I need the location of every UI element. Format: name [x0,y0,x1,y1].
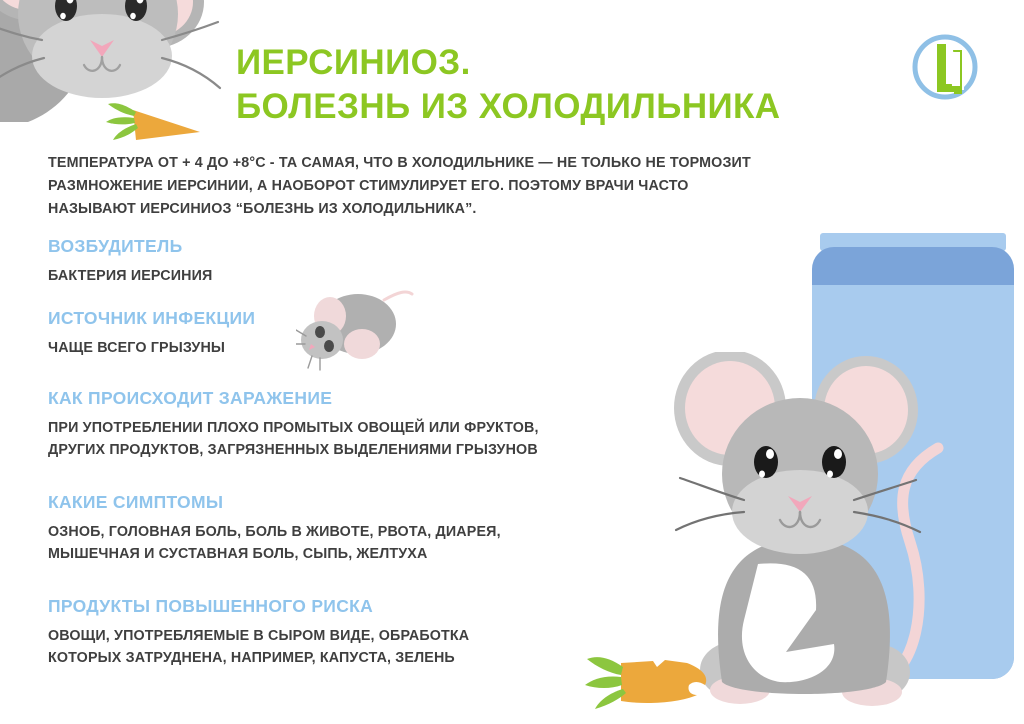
section-infection-source: ИСТОЧНИК ИНФЕКЦИИ ЧАЩЕ ВСЕГО ГРЫЗУНЫ [48,306,708,359]
section-heading-symptoms: КАКИЕ СИМПТОМЫ [48,490,708,514]
section-transmission: КАК ПРОИСХОДИТ ЗАРАЖЕНИЕ ПРИ УПОТРЕБЛЕНИ… [48,386,708,461]
section-body-line: МЫШЕЧНАЯ И СУСТАВНАЯ БОЛЬ, СЫПЬ, ЖЕЛТУХА [48,543,708,565]
section-heading-pathogen: ВОЗБУДИТЕЛЬ [48,234,708,258]
section-body-transmission: ПРИ УПОТРЕБЛЕНИИ ПЛОХО ПРОМЫТЫХ ОВОЩЕЙ И… [48,417,708,461]
intro-paragraph: ТЕМПЕРАТУРА ОТ + 4 ДО +8°С - ТА САМАЯ, Ч… [48,152,948,221]
section-body-line: ОЗНОБ, ГОЛОВНАЯ БОЛЬ, БОЛЬ В ЖИВОТЕ, РВО… [48,521,708,543]
mouse-head-top-left-illustration [0,0,226,164]
section-body-line: ПРИ УПОТРЕБЛЕНИИ ПЛОХО ПРОМЫТЫХ ОВОЩЕЙ И… [48,417,708,439]
section-body-high-risk-products: ОВОЩИ, УПОТРЕБЛЯЕМЫЕ В СЫРОМ ВИДЕ, ОБРАБ… [48,625,708,669]
section-heading-transmission: КАК ПРОИСХОДИТ ЗАРАЖЕНИЕ [48,386,708,410]
section-body-line: БАКТЕРИЯ ИЕРСИНИЯ [48,265,708,287]
section-body-line: КОТОРЫХ ЗАТРУДНЕНА, НАПРИМЕР, КАПУСТА, З… [48,647,708,669]
section-heading-infection-source: ИСТОЧНИК ИНФЕКЦИИ [48,306,708,330]
section-body-pathogen: БАКТЕРИЯ ИЕРСИНИЯ [48,265,708,287]
title-line-2: БОЛЕЗНЬ ИЗ ХОЛОДИЛЬНИКА [236,85,896,129]
section-heading-high-risk-products: ПРОДУКТЫ ПОВЫШЕННОГО РИСКА [48,594,708,618]
section-body-symptoms: ОЗНОБ, ГОЛОВНАЯ БОЛЬ, БОЛЬ В ЖИВОТЕ, РВО… [48,521,708,565]
section-body-line: ОВОЩИ, УПОТРЕБЛЯЕМЫЕ В СЫРОМ ВИДЕ, ОБРАБ… [48,625,708,647]
carrot-icon [106,103,200,140]
organization-logo[interactable] [906,28,984,106]
section-symptoms: КАКИЕ СИМПТОМЫ ОЗНОБ, ГОЛОВНАЯ БОЛЬ, БОЛ… [48,490,708,565]
page-title: ИЕРСИНИОЗ. БОЛЕЗНЬ ИЗ ХОЛОДИЛЬНИКА [236,41,896,129]
refrigerator-illustration [812,233,1024,693]
sections-list: ВОЗБУДИТЕЛЬ БАКТЕРИЯ ИЕРСИНИЯ ИСТОЧНИК И… [48,234,708,689]
section-high-risk-products: ПРОДУКТЫ ПОВЫШЕННОГО РИСКА ОВОЩИ, УПОТРЕ… [48,594,708,669]
section-pathogen: ВОЗБУДИТЕЛЬ БАКТЕРИЯ ИЕРСИНИЯ [48,234,708,287]
section-body-line: ЧАЩЕ ВСЕГО ГРЫЗУНЫ [48,337,708,359]
title-line-1: ИЕРСИНИОЗ. [236,41,896,85]
intro-line-1: ТЕМПЕРАТУРА ОТ + 4 ДО +8°С - ТА САМАЯ, Ч… [48,152,948,175]
section-body-infection-source: ЧАЩЕ ВСЕГО ГРЫЗУНЫ [48,337,708,359]
infographic-poster: ИЕРСИНИОЗ. БОЛЕЗНЬ ИЗ ХОЛОДИЛЬНИКА ТЕМПЕ… [0,0,1024,724]
intro-line-2: РАЗМНОЖЕНИЕ ИЕРСИНИИ, А НАОБОРОТ СТИМУЛИ… [48,175,948,198]
intro-line-3: НАЗЫВАЮТ ИЕРСИНИОЗ “БОЛЕЗНЬ ИЗ ХОЛОДИЛЬН… [48,198,948,221]
section-body-line: ДРУГИХ ПРОДУКТОВ, ЗАГРЯЗНЕННЫХ ВЫДЕЛЕНИЯ… [48,439,708,461]
